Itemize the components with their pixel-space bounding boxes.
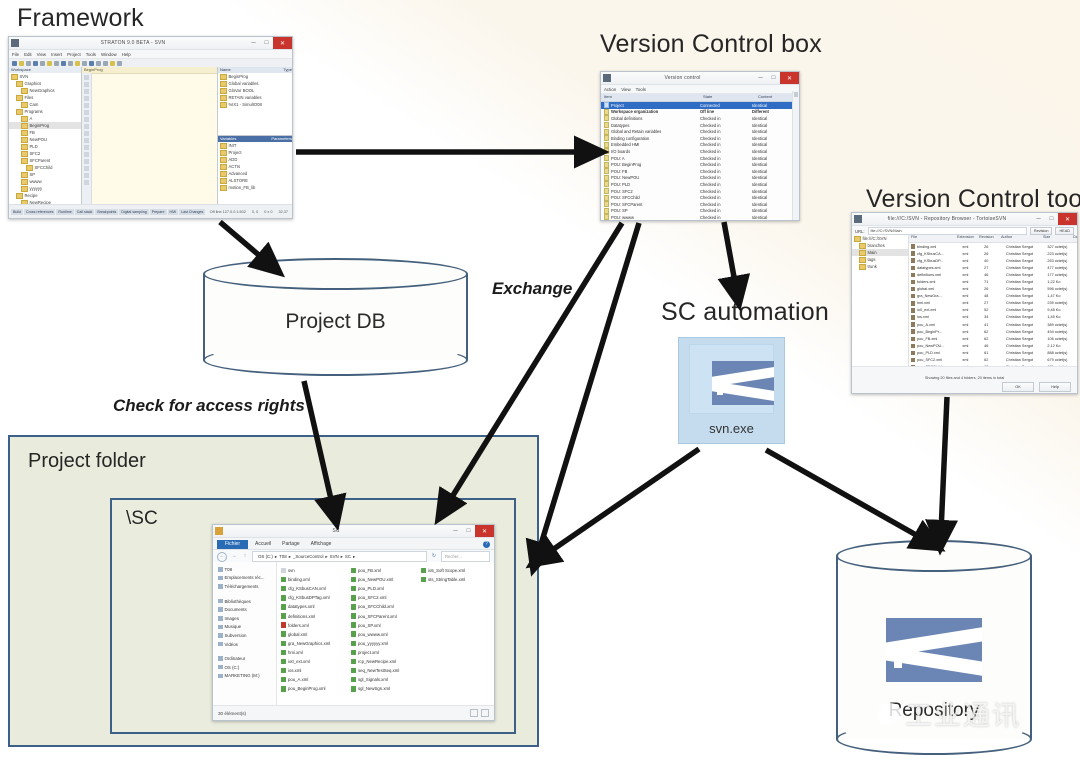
editor-tab-label: BeginProg xyxy=(82,67,217,74)
maximize-icon[interactable]: □ xyxy=(1045,213,1058,225)
tree-item[interactable]: yyyyyy xyxy=(9,185,81,192)
cell-extension: xml xyxy=(960,315,982,319)
repo-row[interactable]: pou_A.xmlxml41Christian Sergot389 octet(… xyxy=(909,321,1077,328)
file-item[interactable]: binding.xml xyxy=(281,575,349,584)
bottom-tab[interactable]: Prepare xyxy=(150,209,167,215)
tree-item[interactable]: SVN xyxy=(9,73,81,80)
nav-item[interactable]: Ordinateur xyxy=(213,654,276,663)
table-row[interactable]: Global and Retain variablesChecked inIde… xyxy=(601,128,799,135)
bottom-tab[interactable]: Call stack xyxy=(75,209,95,215)
cell-author: Christian Sergot xyxy=(1004,301,1045,305)
file-item[interactable]: sgl_NewSgn.xml xyxy=(351,684,419,693)
ribbon-tab-affichage[interactable]: Affichage xyxy=(307,540,336,549)
nav-item[interactable]: Téléchargements xyxy=(213,582,276,591)
cell-date: 06/04 xyxy=(1075,308,1077,312)
tree-item[interactable]: Graphics xyxy=(9,80,81,87)
app-icon xyxy=(603,74,611,82)
cell-file: pou_NewPOU... xyxy=(915,344,960,348)
breadcrumb-item[interactable]: OS (C:) xyxy=(258,554,273,559)
cell-extension: xml xyxy=(960,358,982,362)
nav-item-icon xyxy=(218,599,223,604)
block-row[interactable]: Project xyxy=(218,149,292,156)
vctool-footer: Showing 20 files and 4 folders, 20 items… xyxy=(852,366,1077,393)
folder-icon xyxy=(21,151,28,157)
vctool-footer-message: Showing 20 files and 4 folders, 20 items… xyxy=(852,367,1077,380)
repo-row[interactable]: pou_SFC2.xmlxml62Christian Sergot679 oct… xyxy=(909,357,1077,364)
bottom-tab[interactable]: Last Changes xyxy=(179,209,205,215)
straton-bottom-tabs[interactable]: BuildCross referencesRuntimeCall stackBr… xyxy=(9,209,205,215)
file-item[interactable]: pou_FB.xml xyxy=(351,566,419,575)
tree-item-label: wwww xyxy=(30,179,42,184)
file-name: ios.xml xyxy=(288,668,301,673)
folder-icon xyxy=(859,257,866,263)
tree-item[interactable]: SFC2 xyxy=(9,150,81,157)
window-buttons[interactable]: ─ □ ✕ xyxy=(449,525,494,537)
straton-status-cells: Off line 127.0.0.1:502 0, 0 0 x 0 32,37 xyxy=(205,210,292,214)
bottom-tab[interactable]: Breakpoints xyxy=(95,209,118,215)
revision-button[interactable]: Revision xyxy=(1030,227,1053,235)
block-row[interactable]: ALSTORE xyxy=(218,177,292,184)
bottom-tab[interactable]: Cross references xyxy=(24,209,55,215)
window-buttons[interactable]: ─ □ ✕ xyxy=(1032,213,1077,225)
heading-version-control-box: Version Control box xyxy=(600,30,822,59)
cell-author: Christian Sergot xyxy=(1004,294,1045,298)
tree-item-label: Graphics xyxy=(25,81,42,86)
nav-item[interactable]: MARKETING (M:) xyxy=(213,672,276,681)
file-name: pou_SFCParent.xml xyxy=(358,614,397,619)
heading-sc-automation: SC automation xyxy=(661,298,829,327)
bottom-tab[interactable]: Build xyxy=(11,209,23,215)
item-icon xyxy=(604,122,609,128)
menu-item-project[interactable]: Project xyxy=(67,52,81,57)
file-icon xyxy=(351,650,356,656)
file-item[interactable]: cfg_KSbusCAN.xml xyxy=(281,584,349,593)
cell-revision: 52 xyxy=(982,308,1004,312)
block-row[interactable]: ADD xyxy=(218,156,292,163)
tree-item-label: SP xyxy=(30,172,36,177)
help-icon[interactable]: ? xyxy=(483,541,490,548)
cell-file: cfg_KSbusCA... xyxy=(915,252,960,256)
table-row[interactable]: POU: SFCChildChecked inIdentical xyxy=(601,194,799,201)
folder-icon xyxy=(21,172,28,178)
arrow-vctool-to-repository xyxy=(941,397,947,532)
file-item[interactable]: definitions.xml xyxy=(281,611,349,620)
table-row[interactable]: POU: AChecked inIdentical xyxy=(601,155,799,162)
nav-item[interactable]: Emplacements réc... xyxy=(213,574,276,583)
variable-row[interactable]: BeginProg xyxy=(218,73,292,80)
repo-tree-item[interactable]: branches xyxy=(852,242,908,249)
cell-author: Christian Sergot xyxy=(1004,266,1045,270)
ribbon-tab-fichier[interactable]: Fichier xyxy=(217,540,248,549)
cell-state: Checked in xyxy=(700,202,752,207)
nav-item[interactable]: Subversion xyxy=(213,631,276,640)
minimize-icon[interactable]: ─ xyxy=(1032,213,1045,225)
breadcrumb-item[interactable]: T08 xyxy=(279,554,287,559)
tree-item-label: Cam xyxy=(30,102,39,107)
item-icon xyxy=(604,188,609,194)
cell-author: Christian Sergot xyxy=(1004,315,1045,319)
straton-workspace-tree[interactable]: Workspace SVNGraphicsNewGraphicsFilesCam… xyxy=(9,67,81,205)
item-name: POU: PLD xyxy=(611,182,630,187)
project-folder-label: Project folder xyxy=(28,450,146,473)
tree-item-label: SVN xyxy=(20,74,29,79)
variables-panel[interactable]: Name Type BeginProgGlobal variablesGloVa… xyxy=(218,67,292,136)
tree-item-label: NewPOU xyxy=(30,137,47,142)
file-item[interactable]: pou_wwww.xml xyxy=(351,630,419,639)
bottom-tab[interactable]: HMI xyxy=(168,209,179,215)
nav-item[interactable]: Bibliothèques xyxy=(213,597,276,606)
vertical-scrollbar[interactable] xyxy=(792,91,799,220)
table-row[interactable]: ProjectConnectedIdentical xyxy=(601,102,799,109)
item-name: Datatypes xyxy=(611,123,629,128)
nav-item[interactable]: OS (C:) xyxy=(213,663,276,672)
repo-row[interactable]: gra_NewGra...xml48Christian Sergot1,47 K… xyxy=(909,293,1077,300)
breadcrumb-item[interactable]: SVN xyxy=(330,554,339,559)
cell-date: 06/04 xyxy=(1075,301,1077,305)
close-icon[interactable]: ✕ xyxy=(1058,213,1077,225)
repo-column-headers[interactable]: File Extension Revision Author Size Date xyxy=(909,235,1077,243)
folder-icon xyxy=(21,123,28,129)
tree-item[interactable]: SP xyxy=(9,171,81,178)
repo-row[interactable]: ios.xmlxml34Christian Sergot1,45 Ko06/04 xyxy=(909,314,1077,321)
repo-tree-item[interactable]: trunk xyxy=(852,263,908,270)
cell-size: 1,45 Ko xyxy=(1045,315,1075,319)
cell-file: ios.xml xyxy=(915,315,960,319)
file-item[interactable]: io0_ext.xml xyxy=(281,657,349,666)
version-control-window[interactable]: Version control ─ □ ✕ ActionViewTools It… xyxy=(600,71,800,221)
variable-icon xyxy=(220,81,227,87)
menu-item-tools[interactable]: Tools xyxy=(636,87,646,92)
editor-gutter xyxy=(82,73,92,205)
tree-item[interactable]: A xyxy=(9,115,81,122)
bottom-tab[interactable]: Digital sampling xyxy=(119,209,148,215)
menu-item-insert[interactable]: Insert xyxy=(51,52,62,57)
tree-item[interactable]: NewPOU xyxy=(9,136,81,143)
file-icon xyxy=(421,568,426,574)
close-icon[interactable]: ✕ xyxy=(273,37,292,49)
cell-revision: 46 xyxy=(982,273,1004,277)
file-item[interactable]: pou_yyyyyy.xml xyxy=(351,639,419,648)
file-name: cfg_KSbusCAN.xml xyxy=(288,586,326,591)
file-item[interactable]: pou_SFCParent.xml xyxy=(351,611,419,620)
file-item[interactable]: pou_SFCChild.xml xyxy=(351,602,419,611)
variable-row[interactable]: Global variables xyxy=(218,80,292,87)
nav-item[interactable]: Documents xyxy=(213,605,276,614)
file-icon xyxy=(351,631,356,637)
vcbox-titlebar: Version control ─ □ ✕ xyxy=(601,72,799,85)
bottom-tab[interactable]: Runtime xyxy=(56,209,73,215)
repo-tree-item[interactable]: tags xyxy=(852,256,908,263)
menu-item-action[interactable]: Action xyxy=(604,87,616,92)
cell-author: Christian Sergot xyxy=(1004,308,1045,312)
table-row[interactable]: POU: SPChecked inIdentical xyxy=(601,208,799,215)
repo-tree-item[interactable]: Main xyxy=(852,249,908,256)
vctool-footer-buttons[interactable]: OK Help xyxy=(852,380,1077,392)
arrow-vcbox-to-scbox xyxy=(538,223,639,554)
table-row[interactable]: POU: wwwwChecked inIdentical xyxy=(601,214,799,221)
file-explorer-window[interactable]: SC ─ □ ✕ FichierAccueilPartageAffichage?… xyxy=(212,524,495,721)
repo-row[interactable]: pou_FB.xmlxml62Christian Sergot106 octet… xyxy=(909,335,1077,342)
nav-item-label: Subversion xyxy=(225,633,247,638)
cell-revision: 26 xyxy=(982,245,1004,249)
repo-row[interactable]: folders.xmlxml71Christian Sergot1,22 Ko0… xyxy=(909,278,1077,285)
variable-row[interactable]: RETAIN variables xyxy=(218,94,292,101)
cell-size: 1,47 Ko xyxy=(1045,294,1075,298)
file-icon xyxy=(351,604,356,610)
tree-item[interactable]: SFCChild xyxy=(9,164,81,171)
window-buttons[interactable]: ─ □ ✕ xyxy=(754,72,799,84)
variable-row[interactable]: GloVarBOOL xyxy=(218,87,292,94)
vcbox-row-list[interactable]: ProjectConnectedIdenticalWorkspace organ… xyxy=(601,102,799,221)
table-row[interactable]: POU: NewPOUChecked inIdentical xyxy=(601,175,799,182)
folder-icon xyxy=(21,88,28,94)
nav-item[interactable]: T08 xyxy=(213,565,276,574)
cell-revision: 48 xyxy=(982,294,1004,298)
table-row[interactable]: POU: SFCParentChecked inIdentical xyxy=(601,201,799,208)
tree-item[interactable]: SFCParent xyxy=(9,157,81,164)
straton-editor[interactable]: BeginProg xyxy=(81,67,218,205)
file-item[interactable]: ios.xml xyxy=(281,666,349,675)
view-mode-buttons[interactable] xyxy=(470,709,489,717)
cell-file: pou_PLD.xml xyxy=(915,351,960,355)
up-icon[interactable]: ↑ xyxy=(241,553,249,561)
variable-icon xyxy=(220,74,227,80)
file-item[interactable]: sts_StringTable.xml xyxy=(421,575,489,584)
cell-author: Christian Sergot xyxy=(1004,358,1045,362)
cell-state: Checked in xyxy=(700,156,752,161)
file-item[interactable]: pou_BeginProg.xml xyxy=(281,684,349,693)
cell-item: Global definitions xyxy=(601,115,700,121)
table-row[interactable]: POU: BeginProgChecked inIdentical xyxy=(601,161,799,168)
file-item[interactable]: global.xml xyxy=(281,630,349,639)
ok-button[interactable]: OK xyxy=(1002,382,1034,392)
file-item[interactable]: datatypes.xml xyxy=(281,602,349,611)
folder-icon xyxy=(854,236,861,242)
file-item[interactable]: sgl_Signals.xml xyxy=(351,675,419,684)
item-icon xyxy=(604,129,609,135)
file-item[interactable]: folders.xml xyxy=(281,621,349,630)
repo-tree-item[interactable]: file:///C:/SVN xyxy=(852,235,908,242)
ribbon-tab-accueil[interactable]: Accueil xyxy=(251,540,275,549)
tree-item[interactable]: BeginProg xyxy=(9,122,81,129)
menu-item-file[interactable]: File xyxy=(12,52,19,57)
repo-row[interactable]: pou_BeginPr...xml62Christian Sergot494 o… xyxy=(909,328,1077,335)
tree-item[interactable]: Files xyxy=(9,94,81,101)
cell-revision: 71 xyxy=(982,280,1004,284)
file-item[interactable]: cfg_KSbusDPTag.xml xyxy=(281,593,349,602)
file-item[interactable]: gra_NewGraphics.xml xyxy=(281,639,349,648)
repo-row[interactable]: definitions.xmlxml46Christian Sergot177 … xyxy=(909,271,1077,278)
block-row[interactable]: Advanced xyxy=(218,170,292,177)
file-icon xyxy=(281,613,286,619)
file-item[interactable]: pou_NewPOU.xml xyxy=(351,575,419,584)
nav-item[interactable]: Vidéos xyxy=(213,640,276,649)
cell-author: Christian Sergot xyxy=(1004,344,1045,348)
block-label: ACTIs xyxy=(229,164,241,169)
file-item[interactable]: seq_NewTestSeq.xml xyxy=(351,666,419,675)
breadcrumb-item[interactable]: _SourceControl xyxy=(293,554,324,559)
folder-icon xyxy=(21,144,28,150)
tree-item[interactable]: Cam xyxy=(9,101,81,108)
file-name: rcp_NewRecipe.xml xyxy=(358,659,396,664)
table-row[interactable]: Embedded HMIChecked inIdentical xyxy=(601,142,799,149)
item-name: Binding configuration xyxy=(611,136,649,141)
close-icon[interactable]: ✕ xyxy=(780,72,799,84)
svn-tile-inner xyxy=(689,344,774,414)
table-row[interactable]: I/O boardsChecked inIdentical xyxy=(601,148,799,155)
block-icon xyxy=(220,143,227,149)
breadcrumb-item[interactable]: SC xyxy=(345,554,351,559)
nav-item[interactable]: Musique xyxy=(213,623,276,632)
file-item[interactable]: rcp_NewRecipe.xml xyxy=(351,657,419,666)
menu-item-view[interactable]: View xyxy=(621,87,630,92)
file-item[interactable]: hmi.xml xyxy=(281,648,349,657)
cell-author: Christian Sergot xyxy=(1004,280,1045,284)
item-icon xyxy=(604,102,609,108)
icons-view-icon xyxy=(481,709,489,717)
variable-row[interactable]: %IX1 - SimulIO08 xyxy=(218,101,292,108)
file-item[interactable]: pou_SP.xml xyxy=(351,621,419,630)
repo-row[interactable]: pou_PLD.xmlxml61Christian Sergot888 octe… xyxy=(909,349,1077,356)
refresh-icon[interactable]: ↻ xyxy=(430,553,438,561)
block-icon xyxy=(220,178,227,184)
nav-item[interactable]: Images xyxy=(213,614,276,623)
repo-row[interactable]: io0_ext.xmlxml52Christian Sergot9,48 Ko0… xyxy=(909,307,1077,314)
menu-item-edit[interactable]: Edit xyxy=(24,52,32,57)
table-row[interactable]: Workspace organizationOff lineDifferent xyxy=(601,109,799,116)
menu-item-tools[interactable]: Tools xyxy=(86,52,96,57)
breadcrumb[interactable]: OS (C:)▸T08▸_SourceControl▸SVN▸SC▸ xyxy=(252,551,427,562)
explorer-nav-pane[interactable]: T08Emplacements réc...TéléchargementsBib… xyxy=(213,562,277,706)
svn-exe-tile[interactable]: svn.exe xyxy=(678,337,785,444)
watermark-text: 工业通讯 xyxy=(905,694,1021,733)
straton-right-panels[interactable]: Name Type BeginProgGlobal variablesGloVa… xyxy=(218,67,292,205)
tree-item-label: A xyxy=(30,116,33,121)
table-row[interactable]: DatatypesChecked inIdentical xyxy=(601,122,799,129)
minimize-icon[interactable]: ─ xyxy=(754,72,767,84)
minimize-icon[interactable]: ─ xyxy=(449,525,462,537)
window-buttons[interactable]: ─ □ ✕ xyxy=(247,37,292,49)
menu-item-window[interactable]: Window xyxy=(101,52,117,57)
file-name: folders.xml xyxy=(288,623,309,628)
tree-item[interactable]: FB xyxy=(9,129,81,136)
block-icon xyxy=(220,157,227,163)
tree-item[interactable]: Recipe xyxy=(9,192,81,199)
blocks-panel[interactable]: Variables Parameters INITProjectADDACTIs… xyxy=(218,136,292,205)
repo-file-list[interactable]: File Extension Revision Author Size Date… xyxy=(909,235,1077,367)
explorer-ribbon-tabs[interactable]: FichierAccueilPartageAffichage? xyxy=(213,538,494,550)
cell-item: POU: NewPOU xyxy=(601,175,700,181)
file-icon xyxy=(351,613,356,619)
url-input[interactable]: file:///C:/SVN/Main xyxy=(868,227,1027,235)
repository-browser-window[interactable]: file:///C:/SVN - Repository Browser - To… xyxy=(851,212,1078,394)
repo-tree[interactable]: file:///C:/SVNbranchesMaintagstrunk xyxy=(852,235,909,367)
menu-item-view[interactable]: View xyxy=(37,52,46,57)
cell-extension: xml xyxy=(960,294,982,298)
tree-item[interactable]: wwww xyxy=(9,178,81,185)
table-row[interactable]: Global definitionsChecked inIdentical xyxy=(601,115,799,122)
repo-row[interactable]: datatypes.xmlxml27Christian Sergot477 oc… xyxy=(909,264,1077,271)
block-row[interactable]: INIT xyxy=(218,142,292,149)
table-row[interactable]: POU: SFC2Checked inIdentical xyxy=(601,188,799,195)
close-icon[interactable]: ✕ xyxy=(475,525,494,537)
back-icon[interactable]: ← xyxy=(217,552,227,562)
ribbon-tab-partage[interactable]: Partage xyxy=(278,540,304,549)
tree-item[interactable]: Programs xyxy=(9,108,81,115)
file-name: seq_NewTestSeq.xml xyxy=(358,668,399,673)
cell-extension: xml xyxy=(960,266,982,270)
vcbox-column-headers[interactable]: Item State Content xyxy=(601,94,799,102)
cell-extension: xml xyxy=(960,245,982,249)
search-input[interactable]: Recher... xyxy=(441,551,490,562)
tab-parameters[interactable]: Parameters xyxy=(271,136,292,142)
col-revision: Revision xyxy=(977,235,999,242)
cell-item: Workspace organization xyxy=(601,109,700,115)
file-item[interactable]: project.xml xyxy=(351,648,419,657)
tab-variables[interactable]: Variables xyxy=(220,136,236,142)
item-name: I/O boards xyxy=(611,149,630,154)
file-name: pou_NewPOU.xml xyxy=(358,577,393,582)
straton-menubar[interactable]: FileEditViewInsertProjectToolsWindowHelp xyxy=(9,50,292,59)
repo-row[interactable]: pou_NewPOU...xml46Christian Sergot2,12 K… xyxy=(909,342,1077,349)
repo-row[interactable]: cfg_KSbusDP...xml40Christian Sergot253 o… xyxy=(909,257,1077,264)
maximize-icon[interactable]: □ xyxy=(260,37,273,49)
file-item[interactable]: io5_Soft Scope.xml xyxy=(421,566,489,575)
menu-item-help[interactable]: Help xyxy=(122,52,131,57)
explorer-file-pane[interactable]: svnbinding.xmlcfg_KSbusCAN.xmlcfg_KSbusD… xyxy=(277,562,494,706)
explorer-titlebar: SC ─ □ ✕ xyxy=(213,525,494,538)
repo-row[interactable]: global.xmlxml26Christian Sergot596 octet… xyxy=(909,286,1077,293)
tree-item[interactable]: NewGraphics xyxy=(9,87,81,94)
file-item[interactable]: pou_A.xml xyxy=(281,675,349,684)
straton-titlebar: STRATON 9.0 BETA - SVN ─ □ ✕ xyxy=(9,37,292,50)
arrow-svnexe-to-sc xyxy=(545,449,699,555)
straton-window[interactable]: STRATON 9.0 BETA - SVN ─ □ ✕ FileEditVie… xyxy=(8,36,293,219)
app-icon xyxy=(854,215,862,223)
block-row[interactable]: motion_FB_lib xyxy=(218,184,292,191)
help-button[interactable]: Help xyxy=(1039,382,1071,392)
label-exchange: Exchange xyxy=(492,279,572,299)
nav-item-icon xyxy=(218,665,223,670)
repo-row[interactable]: binding.xmlxml26Christian Sergot327 octe… xyxy=(909,243,1077,250)
table-row[interactable]: POU: FBChecked inIdentical xyxy=(601,168,799,175)
cell-extension: xml xyxy=(960,280,982,284)
table-row[interactable]: POU: PLDChecked inIdentical xyxy=(601,181,799,188)
file-item[interactable]: pou_PLD.xml xyxy=(351,584,419,593)
tree-item[interactable]: PLD xyxy=(9,143,81,150)
maximize-icon[interactable]: □ xyxy=(767,72,780,84)
file-item[interactable]: pou_SFC2.xml xyxy=(351,593,419,602)
cell-revision: 26 xyxy=(982,252,1004,256)
file-icon xyxy=(281,686,286,692)
vcbox-menubar[interactable]: ActionViewTools xyxy=(601,85,799,94)
tree-item-label: SFCChild xyxy=(35,165,53,170)
file-name: pou_FB.xml xyxy=(358,568,381,573)
minimize-icon[interactable]: ─ xyxy=(247,37,260,49)
repo-row[interactable]: hmi.xmlxml27Christian Sergot239 octet(s)… xyxy=(909,300,1077,307)
repo-row[interactable]: cfg_KSbusCA...xml26Christian Sergot223 o… xyxy=(909,250,1077,257)
details-view-icon xyxy=(470,709,478,717)
forward-icon[interactable]: → xyxy=(230,553,238,561)
block-label: ALSTORE xyxy=(229,178,248,183)
nav-item-icon xyxy=(218,607,223,612)
maximize-icon[interactable]: □ xyxy=(462,525,475,537)
table-row[interactable]: Binding configurationChecked inIdentical xyxy=(601,135,799,142)
block-row[interactable]: ACTIs xyxy=(218,163,292,170)
file-item[interactable]: svn xyxy=(281,566,349,575)
head-button[interactable]: HEAD xyxy=(1055,227,1074,235)
cell-date: 02/03 xyxy=(1075,330,1077,334)
